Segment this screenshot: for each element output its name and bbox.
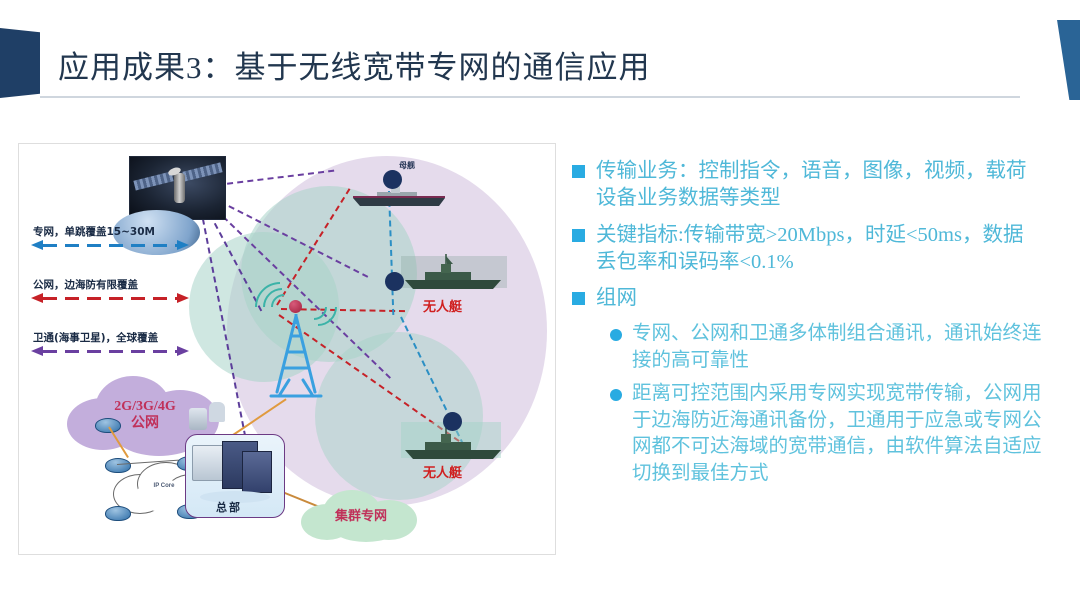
workstation-icon: [192, 445, 224, 481]
ip-core-label: IP Core: [154, 483, 175, 491]
router-icon-1: [105, 458, 131, 473]
round-bullet-icon: [610, 389, 622, 401]
usv-lower-label: 无人艇: [423, 462, 462, 481]
usv-lower-node: [443, 412, 462, 431]
network-architecture-diagram: 专网，单跳覆盖15~30M 公网，边海防有限覆盖 卫通(海事卫星)，全球覆盖 母…: [18, 143, 556, 555]
legend-arrow-satcom: [31, 346, 189, 356]
headquarters-label: 总部: [216, 499, 242, 515]
cluster-network-cloud: 集群专网: [301, 488, 421, 544]
satellite-icon: [129, 156, 226, 220]
cluster-cloud-label: 集群专网: [335, 508, 387, 524]
corner-accent-top-left: [0, 28, 40, 98]
title-divider: [40, 96, 1020, 98]
server-rack-icon-2: [242, 451, 272, 493]
sub-bullet-text-2: 距离可控范围内采用专网实现宽带传输，公网用于边海防近海通讯备份，卫通用于应急或专…: [632, 381, 1042, 487]
legend-arrow-private: [31, 240, 189, 250]
public-cloud-line1: 2G/3G/4G: [114, 398, 175, 416]
usv-upper-node: [385, 272, 404, 291]
public-cloud-line2: 公网: [114, 415, 175, 433]
sub-bullet-item-1: 专网、公网和卫通多体制组合通讯，通讯始终连接的高可靠性: [610, 321, 1042, 374]
bullet-text-2: 关键指标:传输带宽>20Mbps，时延<50ms，数据丢包率和误码率<0.1%: [596, 222, 1042, 277]
bullet-item-3: 组网: [572, 285, 1042, 312]
router-icon-3: [105, 506, 131, 521]
sub-bullet-text-1: 专网、公网和卫通多体制组合通讯，通讯始终连接的高可靠性: [632, 321, 1042, 374]
operator-icon: [209, 402, 225, 422]
legend-label-private: 专网，单跳覆盖15~30M: [33, 224, 155, 239]
page-title: 应用成果3：基于无线宽带专网的通信应用: [58, 42, 651, 87]
mothership-node: [383, 170, 402, 189]
legend-label-public: 公网，边海防有限覆盖: [33, 277, 138, 292]
square-bullet-icon: [572, 165, 585, 178]
usv-upper-icon: [401, 254, 507, 294]
bullet-text-3: 组网: [596, 285, 637, 312]
square-bullet-icon: [572, 229, 585, 242]
bullet-item-1: 传输业务：控制指令，语音，图像，视频，载荷设备业务数据等类型: [572, 158, 1042, 213]
bullet-text-1: 传输业务：控制指令，语音，图像，视频，载荷设备业务数据等类型: [596, 158, 1042, 213]
monitor-icon: [189, 408, 207, 430]
bullet-item-2: 关键指标:传输带宽>20Mbps，时延<50ms，数据丢包率和误码率<0.1%: [572, 222, 1042, 277]
sub-bullet-list: 专网、公网和卫通多体制组合通讯，通讯始终连接的高可靠性 距离可控范围内采用专网实…: [610, 321, 1042, 487]
content-bullet-panel: 传输业务：控制指令，语音，图像，视频，载荷设备业务数据等类型 关键指标:传输带宽…: [572, 158, 1042, 494]
corner-accent-top-right: [1052, 20, 1080, 100]
mothership-label: 母舰: [399, 160, 415, 171]
round-bullet-icon: [610, 329, 622, 341]
legend-label-satcom: 卫通(海事卫星)，全球覆盖: [33, 330, 158, 345]
legend-arrow-public: [31, 293, 189, 303]
headquarters-box: 总部: [185, 434, 285, 518]
square-bullet-icon: [572, 292, 585, 305]
usv-upper-label: 无人艇: [423, 296, 462, 315]
sub-bullet-item-2: 距离可控范围内采用专网实现宽带传输，公网用于边海防近海通讯备份，卫通用于应急或专…: [610, 381, 1042, 487]
